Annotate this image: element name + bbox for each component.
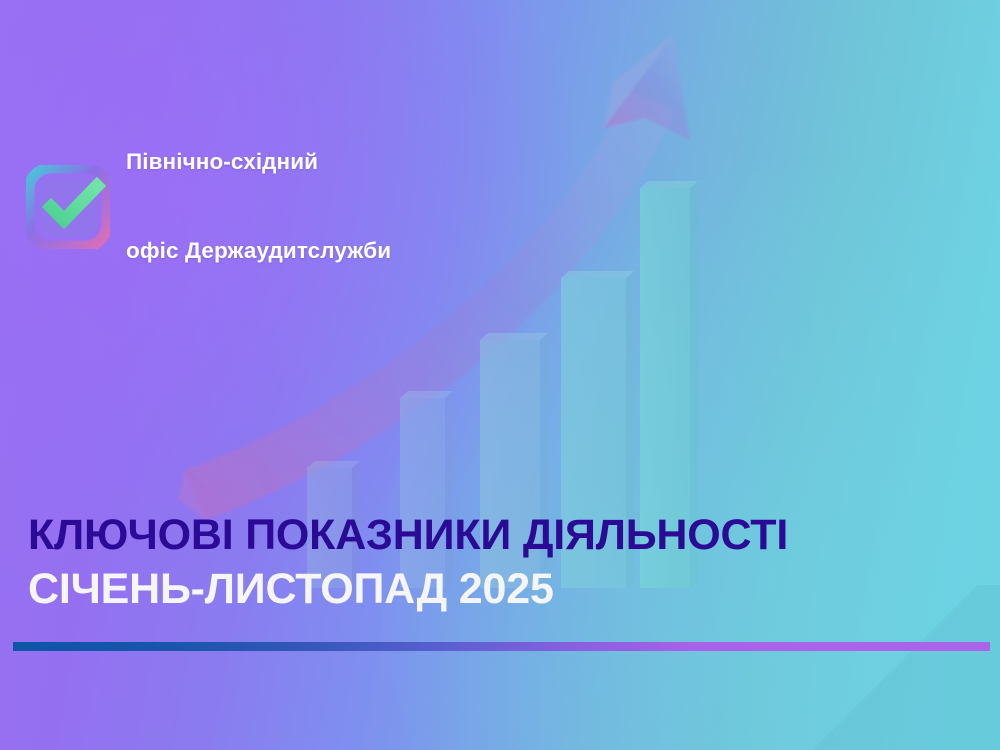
growth-arrow-head-highlight bbox=[604, 35, 673, 128]
organization-name: Північно-східний офіс Держаудитслужби bbox=[126, 88, 391, 326]
slide-root: Північно-східний офіс Держаудитслужби КЛ… bbox=[0, 0, 1000, 750]
accent-divider-bar bbox=[13, 642, 990, 651]
headline-line-1: КЛЮЧОВІ ПОКАЗНИКИ ДІЯЛЬНОСТІ bbox=[28, 508, 958, 563]
organization-logo-block: Північно-східний офіс Держаудитслужби bbox=[26, 88, 391, 326]
organization-name-line-2: офіс Держаудитслужби bbox=[126, 236, 391, 266]
growth-arrow-head bbox=[604, 35, 690, 140]
background-glow-cyan bbox=[380, 170, 1000, 750]
headline-line-2: СІЧЕНЬ-ЛИСТОПАД 2025 bbox=[28, 562, 958, 617]
slide-headline: КЛЮЧОВІ ПОКАЗНИКИ ДІЯЛЬНОСТІ СІЧЕНЬ-ЛИСТ… bbox=[28, 508, 958, 617]
checkmark-rounded-square-logo-icon bbox=[26, 165, 110, 249]
organization-name-line-1: Північно-східний bbox=[126, 147, 391, 177]
